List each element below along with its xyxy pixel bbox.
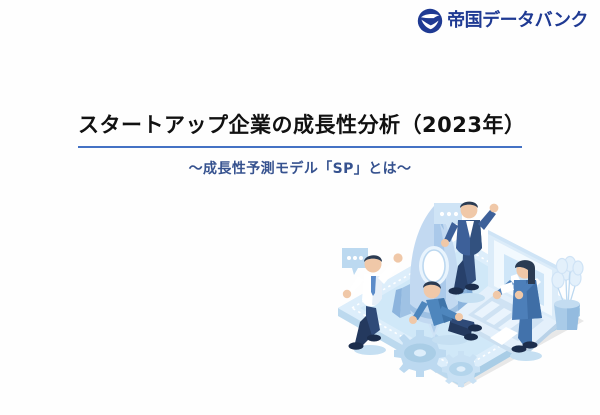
teikoku-databank-emblem-icon [417,8,443,34]
brand-logo: 帝国データバンク [417,8,588,34]
gear-icon-small [442,351,480,387]
page-subtitle: 〜成長性予測モデル「SP」とは〜 [78,158,522,178]
isometric-startup-growth-illustration [322,188,600,393]
title-area: スタートアップ企業の成長性分析（2023年） 〜成長性予測モデル「SP」とは〜 [78,112,522,178]
page-title: スタートアップ企業の成長性分析（2023年） [78,112,522,139]
slide-root: { "brand": { "logo_icon": "teikoku-datab… [0,0,600,415]
brand-logo-text: 帝国データバンク [447,12,588,30]
title-divider [78,146,522,148]
